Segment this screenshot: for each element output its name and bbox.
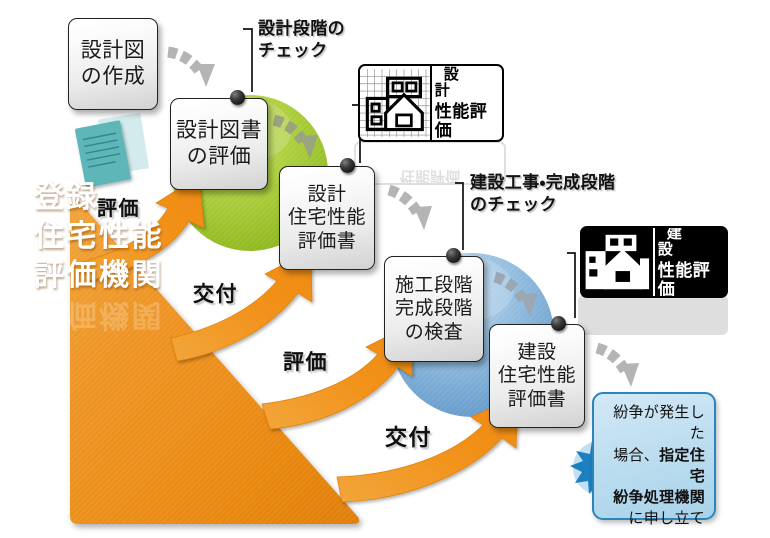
knob-construction-completion-inspection [446,248,461,263]
gray-arrow-3 [389,190,432,230]
design-performance-badge: 設 計 性能評価 [358,64,504,142]
gray-arrow-5 [597,348,639,387]
dispute-line-2-plain: 場合、 [613,446,659,464]
process-box-construction-completion-inspection[interactable]: 施工段階 完成段階 の検査 [384,256,484,362]
flow-label-issuance-2: 交付 [385,420,432,452]
knob-design-housing-performance-report [340,158,355,173]
badge-text-block: 建 設 性能評価 [655,228,726,296]
construction-badge-reflection [578,295,728,335]
badge-house-building-icon [582,228,653,296]
box-line: の検査 [405,321,464,344]
callout-construction-completion-stage-check: 建設工事・完成段階 のチェック [470,172,615,216]
callout-design-stage-check: 設計段階の チェック [258,18,345,62]
leader-line-design-stage-check [243,29,252,92]
box-line: の評価 [187,144,252,170]
process-box-design-drawing-creation[interactable]: 設計図 の作成 [68,18,158,110]
badge-bottom-text: 性能評価 [435,103,499,140]
process-box-construction-housing-performance-report[interactable]: 建設 住宅性能 評価書 [489,324,585,428]
dispute-resolution-box[interactable]: 紛争が発生した 場合、指定住宅 紛争処理機関 に申し立て [592,392,716,520]
dispute-line-3: 紛争処理機関 [601,487,705,508]
badge-bottom-text: 性能評価 [658,262,723,298]
diagram-canvas: 性能評価 登録 住宅性能 評価機関 評価機関 設計図 の作成 設計図書 の評価 … [0,0,770,538]
badge-house-blueprint-icon [360,66,430,140]
process-box-design-housing-performance-report[interactable]: 設計 住宅性能 評価書 [279,166,375,270]
box-line: 設計 [307,183,346,206]
svg-text:性能評価: 性能評価 [400,168,460,186]
organization-label-reflection: 評価機関 [34,296,164,340]
box-line: 設計図 [81,38,146,64]
box-line: 評価書 [298,230,357,253]
design-documents-icon [75,113,149,188]
dispute-line-1: 紛争が発生した [601,402,705,445]
box-line: 設計図書 [176,118,262,144]
box-line: 評価書 [508,388,567,411]
box-line: 完成段階 [395,297,473,320]
box-line: 施工段階 [395,274,473,297]
process-box-design-document-evaluation[interactable]: 設計図書 の評価 [170,98,268,190]
box-line: 建設 [517,341,556,364]
box-line: の作成 [81,64,146,90]
knob-construction-housing-performance-report [551,316,566,331]
dispute-line-2-bold: 指定住宅 [659,446,705,485]
box-line: 住宅性能 [498,364,576,387]
badge-top-text: 設 計 [435,66,499,99]
box-line: 住宅性能 [288,206,366,229]
dispute-line-4: に申し立て [601,508,705,529]
badge-text-block: 設 計 性能評価 [432,66,502,140]
construction-performance-badge: 建 設 性能評価 [580,226,728,298]
badge-top-text: 建 設 [658,226,723,258]
leader-line-construction-stage-check [455,183,463,250]
dispute-line-2: 場合、指定住宅 [601,445,705,488]
flow-label-evaluation-1: 評価 [97,192,140,221]
gray-arrow-1 [168,52,215,87]
leader-line-construction-badge [567,253,575,318]
knob-design-document-evaluation [230,90,245,105]
flow-label-issuance-1: 交付 [193,278,238,308]
flow-label-evaluation-2: 評価 [283,346,328,376]
